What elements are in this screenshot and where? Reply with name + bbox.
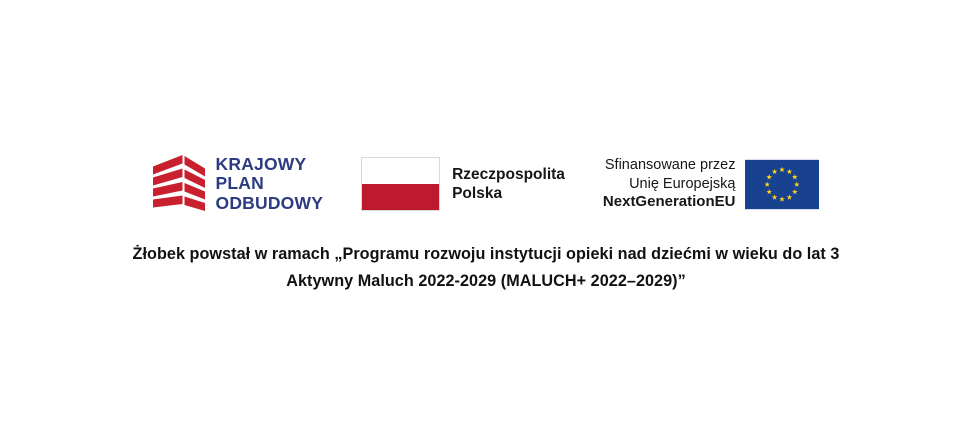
caption-line-1: Żłobek powstał w ramach „Programu rozwoj… bbox=[0, 241, 972, 268]
eu-line-3-nextgenerationeu: NextGenerationEU bbox=[603, 193, 736, 212]
kpo-line-2: PLAN bbox=[216, 174, 324, 194]
logo-strip: KRAJOWY PLAN ODBUDOWY Rzeczpospolita Pol… bbox=[0, 145, 972, 223]
eu-line-2: Unię Europejską bbox=[603, 175, 736, 194]
poland-line-2: Polska bbox=[452, 184, 565, 203]
kpo-line-3: ODBUDOWY bbox=[216, 194, 324, 214]
caption-line-2: Aktywny Maluch 2022-2029 (MALUCH+ 2022–2… bbox=[0, 268, 972, 295]
funding-caption: Żłobek powstał w ramach „Programu rozwoj… bbox=[0, 241, 972, 295]
poland-line-1: Rzeczpospolita bbox=[452, 165, 565, 184]
eu-line-1: Sfinansowane przez bbox=[603, 156, 736, 175]
logo-european-union: Sfinansowane przez Unię Europejską NextG… bbox=[603, 155, 820, 214]
kpo-building-mark-icon bbox=[153, 155, 205, 213]
logo-krajowy-plan-odbudowy: KRAJOWY PLAN ODBUDOWY bbox=[153, 155, 324, 214]
eu-wordmark: Sfinansowane przez Unię Europejską NextG… bbox=[603, 156, 736, 212]
poland-flag-red-band bbox=[362, 184, 439, 210]
poland-flag-white-band bbox=[362, 158, 439, 184]
logo-rzeczpospolita-polska: Rzeczpospolita Polska bbox=[361, 157, 565, 211]
kpo-wordmark: KRAJOWY PLAN ODBUDOWY bbox=[216, 155, 324, 214]
poland-flag-icon bbox=[361, 157, 440, 211]
kpo-line-1: KRAJOWY bbox=[216, 155, 324, 175]
poland-wordmark: Rzeczpospolita Polska bbox=[452, 165, 565, 203]
european-union-flag-icon bbox=[745, 155, 819, 214]
funding-logos-banner: KRAJOWY PLAN ODBUDOWY Rzeczpospolita Pol… bbox=[0, 0, 972, 448]
